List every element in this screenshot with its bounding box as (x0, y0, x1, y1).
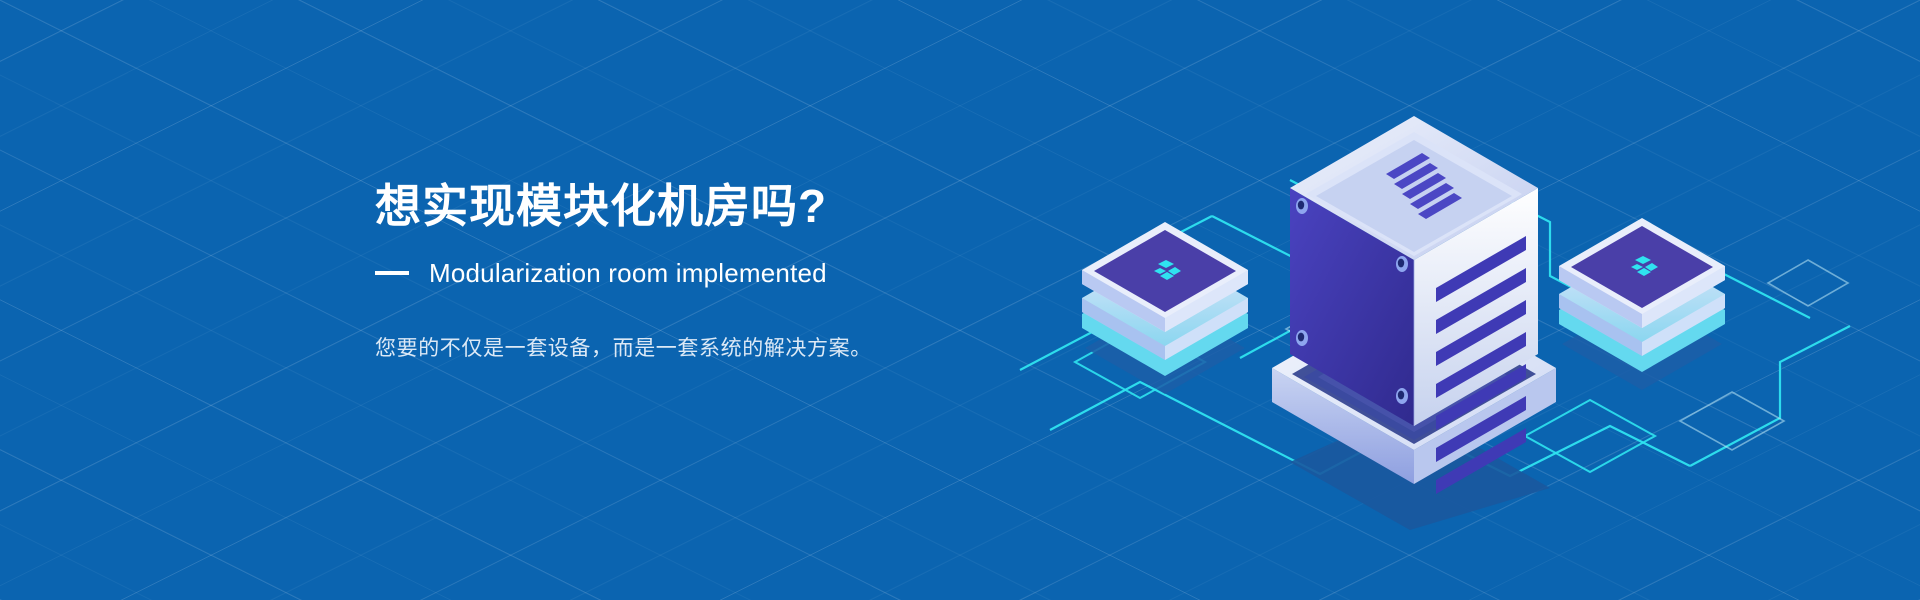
isometric-server-room-illustration (990, 70, 1890, 530)
accent-rule-icon (375, 271, 409, 275)
subtitle-text: Modularization room implemented (429, 258, 827, 289)
server-rack (1272, 116, 1556, 530)
chip-module-right (1559, 218, 1725, 390)
hero-banner: 想实现模块化机房吗? Modularization room implement… (0, 0, 1920, 600)
chip-module-left (1082, 222, 1248, 394)
